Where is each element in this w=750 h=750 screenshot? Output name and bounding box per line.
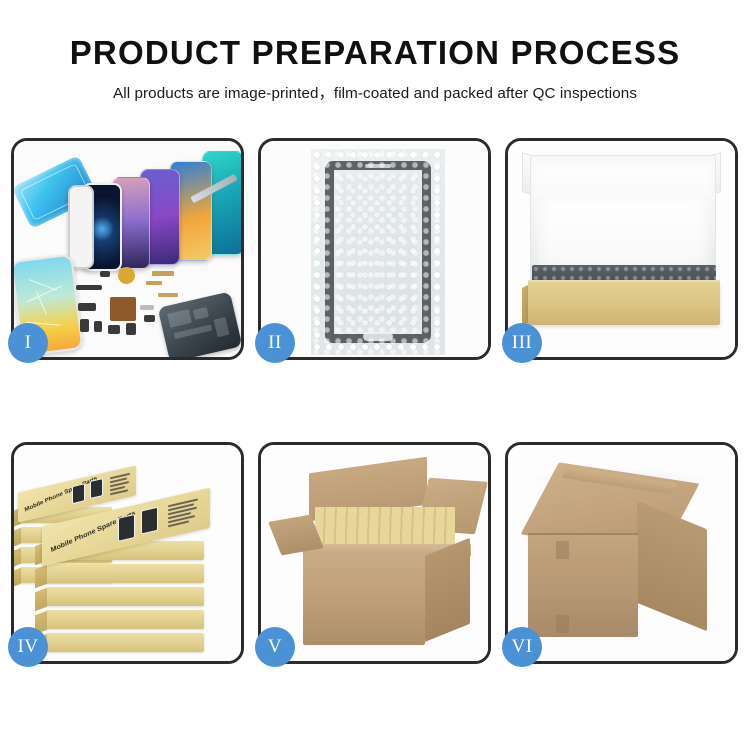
step-panel-3: III <box>505 138 738 360</box>
step-image-6 <box>508 445 735 661</box>
sealed-carton-scene <box>508 445 735 661</box>
header: PRODUCT PREPARATION PROCESS All products… <box>0 0 750 103</box>
stack-box-front-3 <box>46 587 204 606</box>
step-image-2 <box>261 141 488 357</box>
phone-lineup <box>76 149 241 269</box>
step-badge-1: I <box>8 323 48 363</box>
box-stack-scene: Mobile Phone Spare Parts <box>14 445 241 661</box>
step-badge-2: II <box>255 323 295 363</box>
page-subtitle: All products are image-printed，film-coat… <box>0 81 750 103</box>
step-panel-6: VI <box>505 442 738 664</box>
foam-padding <box>538 195 708 269</box>
carton-front-face <box>528 533 638 637</box>
stack-box-front-5 <box>46 633 204 652</box>
step-image-4: Mobile Phone Spare Parts <box>14 445 241 661</box>
steps-grid: I II <box>11 138 739 664</box>
earpiece-slot <box>365 164 391 168</box>
step-badge-6: VI <box>502 627 542 667</box>
step-panel-4: Mobile Phone Spare Parts <box>11 442 244 664</box>
step-panel-2: II <box>258 138 491 360</box>
stack-box-front-4 <box>46 610 204 629</box>
carton-side-right <box>424 538 470 643</box>
open-carton-scene <box>261 445 488 661</box>
step-badge-4: IV <box>8 627 48 667</box>
tray-front <box>528 283 720 325</box>
carton-front <box>303 553 425 645</box>
step-image-1 <box>14 141 241 357</box>
step-panel-5: V <box>258 442 491 664</box>
step-badge-5: V <box>255 627 295 667</box>
page-title: PRODUCT PREPARATION PROCESS <box>0 34 750 72</box>
step-panel-1: I <box>11 138 244 360</box>
carton-contents-boxes <box>315 507 455 549</box>
wallpaper-glow <box>91 216 113 242</box>
bubble-wrap-sheet <box>311 149 445 355</box>
phone-parts-scene <box>14 141 241 357</box>
phone-glass-blank <box>68 185 94 269</box>
bubble-wrap-scene <box>261 141 488 357</box>
carton-right-face <box>637 501 707 631</box>
stack-box-front-2 <box>46 564 204 583</box>
wrapped-screen <box>325 161 431 343</box>
product-preparation-infographic: PRODUCT PREPARATION PROCESS All products… <box>0 0 750 750</box>
step-badge-3: III <box>502 323 542 363</box>
step-image-3 <box>508 141 735 357</box>
tray-box-scene <box>508 141 735 357</box>
step-image-5 <box>261 445 488 661</box>
